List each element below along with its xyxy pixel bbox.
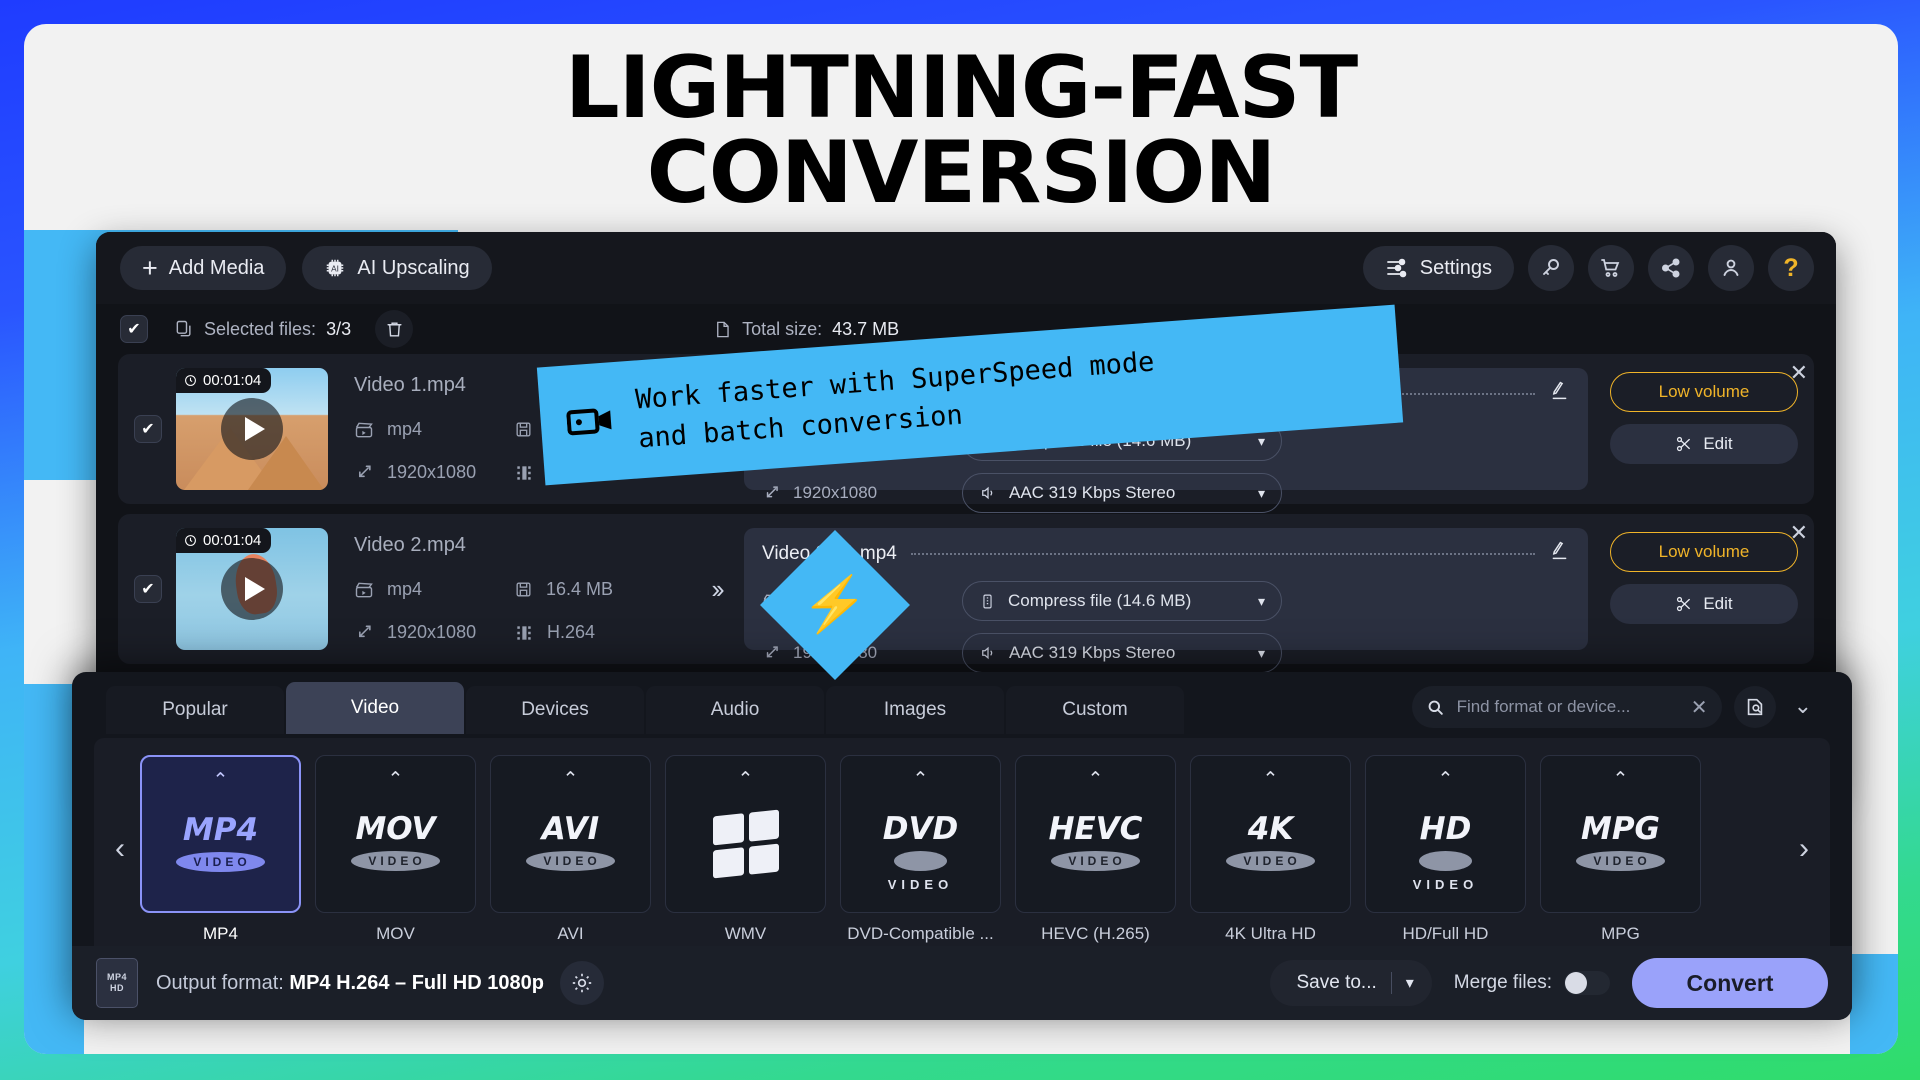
chevron-up-icon: ⌃ <box>1088 770 1104 789</box>
ai-upscaling-button[interactable]: AI AI Upscaling <box>302 246 491 290</box>
resize-icon <box>354 623 374 643</box>
chevron-up-icon: ⌃ <box>388 770 404 789</box>
plus-icon: + <box>142 255 158 282</box>
format-card-label: HD/Full HD <box>1365 924 1526 944</box>
remove-row-icon[interactable]: ✕ <box>1790 362 1808 384</box>
avi-logo: AVI VIDEO <box>526 811 614 871</box>
hero-title-line2: CONVERSION <box>24 131 1898 216</box>
format-card-label: MOV <box>315 924 476 944</box>
tab-custom[interactable]: Custom <box>1006 686 1184 734</box>
file-icon <box>713 320 732 339</box>
settings-button[interactable]: Settings <box>1363 246 1514 290</box>
tab-popular[interactable]: Popular <box>106 686 284 734</box>
background-gradient: LIGHTNING-FAST CONVERSION + Add Media AI… <box>0 0 1920 1080</box>
scissors-icon <box>1675 595 1693 613</box>
tab-label: Video <box>351 697 399 719</box>
bottom-bar-right: Save to... ▾ Merge files: Convert <box>1270 958 1828 1008</box>
gear-icon[interactable] <box>560 961 604 1005</box>
format-card-body[interactable]: ⌃ HEVC VIDEO <box>1015 755 1176 913</box>
prev-formats-arrow[interactable]: ‹ <box>100 832 140 866</box>
help-icon[interactable]: ? <box>1768 245 1814 291</box>
tab-label: Custom <box>1062 699 1127 721</box>
video-camera-icon <box>566 402 617 444</box>
output-format-text: Output format: MP4 H.264 – Full HD 1080p <box>156 972 544 995</box>
copies-icon <box>174 319 194 339</box>
chevron-down-icon: ▾ <box>1258 433 1265 450</box>
search-icon <box>1426 698 1445 717</box>
row-checkbox-wrap: ✔ <box>134 528 162 650</box>
format-cards: ⌃ MP4 VIDEO MP4 ⌃ MOV VIDEO <box>140 755 1784 944</box>
format-card-avi[interactable]: ⌃ AVI VIDEO AVI <box>490 755 651 944</box>
audio-select[interactable]: AAC 319 Kbps Stereo ▾ <box>962 633 1282 673</box>
duration-badge: 00:01:04 <box>176 368 271 393</box>
merge-files-label: Merge files: <box>1454 972 1552 994</box>
callout-text: Work faster with SuperSpeed mode and bat… <box>634 342 1159 458</box>
compress-icon <box>979 593 996 610</box>
destination-name-line: Video 2 (1).mp4 <box>762 540 1570 567</box>
video-thumbnail[interactable]: 00:01:04 <box>176 368 328 490</box>
source-size-cell: 16.4 MB <box>514 579 688 600</box>
logo-oval-text: VIDEO <box>176 852 264 872</box>
tab-label: Popular <box>162 699 228 721</box>
toolbar-right-group: Settings ? <box>1363 245 1814 291</box>
film-strip-icon <box>514 623 534 643</box>
sliders-icon <box>1385 256 1409 280</box>
share-icon[interactable] <box>1648 245 1694 291</box>
edit-button[interactable]: Edit <box>1610 584 1798 624</box>
duration-value: 00:01:04 <box>203 372 261 389</box>
play-icon <box>245 577 265 601</box>
selected-files-group: Selected files: 3/3 <box>174 310 413 348</box>
tab-audio[interactable]: Audio <box>646 686 824 734</box>
add-media-button[interactable]: + Add Media <box>120 246 286 290</box>
format-card-body[interactable]: ⌃ <box>665 755 826 913</box>
format-card-label: AVI <box>490 924 651 944</box>
logo-oval-text: VIDEO <box>526 851 614 871</box>
chevron-up-icon: ⌃ <box>1613 770 1629 789</box>
format-card-body[interactable]: ⌃ DVD VIDEO <box>840 755 1001 913</box>
resize-icon <box>762 484 781 503</box>
chevron-up-icon: ⌃ <box>913 770 929 789</box>
format-card-label: MP4 <box>140 924 301 944</box>
status-badge[interactable]: Low volume <box>1610 532 1798 572</box>
speaker-icon <box>979 484 997 502</box>
convert-arrow: ›› <box>688 528 744 650</box>
output-format-value: MP4 H.264 – Full HD 1080p <box>289 972 544 994</box>
clear-search-icon[interactable]: ✕ <box>1691 695 1708 720</box>
source-resolution-cell: 1920x1080 <box>354 462 514 483</box>
format-card-hd[interactable]: ⌃ HD VIDEO HD/Full HD <box>1365 755 1526 944</box>
source-meta: Video 2.mp4 mp4 16.4 MB <box>328 528 688 650</box>
mp4-logo: MP4 VIDEO <box>176 812 264 872</box>
resize-icon <box>762 644 781 663</box>
source-container-cell: mp4 <box>354 419 514 440</box>
source-size-value: 16.4 MB <box>546 579 613 600</box>
save-to-label: Save to... <box>1296 972 1376 994</box>
output-format-label: Output format: <box>156 972 284 994</box>
status-badge[interactable]: Low volume <box>1610 372 1798 412</box>
ai-upscaling-label: AI Upscaling <box>357 257 469 280</box>
logo-oval-text: VIDEO <box>1576 851 1664 871</box>
edit-label: Edit <box>1703 434 1732 454</box>
row-checkbox[interactable]: ✔ <box>134 415 162 443</box>
source-codec-value: H.264 <box>547 622 595 643</box>
source-container-value: mp4 <box>387 579 422 600</box>
selected-files-label: Selected files: <box>204 319 316 340</box>
logo-text: MPG <box>1581 811 1660 847</box>
search-box[interactable]: ✕ <box>1412 686 1722 728</box>
tab-images[interactable]: Images <box>826 686 1004 734</box>
duration-value: 00:01:04 <box>203 532 261 549</box>
chevron-down-icon: ▾ <box>1258 645 1265 662</box>
source-codec-cell: H.264 <box>514 622 688 643</box>
audio-label: AAC 319 Kbps Stereo <box>1009 483 1175 503</box>
4k-logo: 4K VIDEO <box>1226 811 1314 871</box>
rename-pencil-icon[interactable] <box>1549 380 1570 407</box>
merge-files-group: Merge files: <box>1454 971 1610 995</box>
dest-resolution-cell: 1920x1080 <box>762 483 962 503</box>
logo-text: AVI <box>542 811 599 847</box>
source-resolution-cell: 1920x1080 <box>354 622 514 643</box>
add-media-label: Add Media <box>169 257 265 280</box>
film-strip-icon <box>514 463 534 483</box>
mpg-logo: MPG VIDEO <box>1576 811 1664 871</box>
dotted-filler <box>911 553 1535 555</box>
format-card-4k[interactable]: ⌃ 4K VIDEO 4K Ultra HD <box>1190 755 1351 944</box>
toggle-knob <box>1565 972 1587 994</box>
key-icon[interactable] <box>1528 245 1574 291</box>
account-icon[interactable] <box>1708 245 1754 291</box>
play-button[interactable] <box>221 398 283 460</box>
format-card-body[interactable]: ⌃ 4K VIDEO <box>1190 755 1351 913</box>
logo-oval-blank <box>894 851 947 871</box>
source-container-value: mp4 <box>387 419 422 440</box>
duration-badge: 00:01:04 <box>176 528 271 553</box>
format-panel: Popular Video Devices Audio Images Custo… <box>72 672 1852 1020</box>
ai-chip-icon: AI <box>324 257 346 279</box>
video-thumbnail[interactable]: 00:01:04 <box>176 528 328 650</box>
tab-video[interactable]: Video <box>286 682 464 734</box>
format-tabs: Popular Video Devices Audio Images Custo… <box>72 672 1852 734</box>
play-button[interactable] <box>221 558 283 620</box>
windows-logo-icon <box>713 809 779 878</box>
format-card-body[interactable]: ⌃ MPG VIDEO <box>1540 755 1701 913</box>
format-tabs-right: ✕ ⌄ <box>1412 686 1818 734</box>
selected-files-value: 3/3 <box>326 319 351 340</box>
dvd-logo: DVD VIDEO <box>883 811 958 892</box>
chevron-up-icon: ⌃ <box>563 770 579 789</box>
play-icon <box>245 417 265 441</box>
total-size-group: Total size: 43.7 MB <box>713 319 899 340</box>
hd-logo: HD VIDEO <box>1413 811 1478 892</box>
disk-icon <box>514 420 533 439</box>
save-to-button[interactable]: Save to... ▾ <box>1270 960 1431 1006</box>
speaker-icon <box>979 644 997 662</box>
search-input[interactable] <box>1457 697 1679 717</box>
scissors-icon <box>1675 435 1693 453</box>
chevron-down-icon: ▾ <box>1258 485 1265 502</box>
logo-sub-text: VIDEO <box>888 877 953 892</box>
clapperboard-icon <box>354 420 374 440</box>
audio-select[interactable]: AAC 319 Kbps Stereo ▾ <box>962 473 1282 513</box>
decorative-blue-block-right <box>1850 954 1898 1054</box>
row-actions: Low volume Edit <box>1588 368 1798 490</box>
logo-text: HD <box>1420 811 1472 847</box>
row-actions: Low volume Edit <box>1588 528 1798 650</box>
logo-oval-blank <box>1419 851 1472 871</box>
format-card-mpg[interactable]: ⌃ MPG VIDEO MPG <box>1540 755 1701 944</box>
cart-icon[interactable] <box>1588 245 1634 291</box>
total-size-value: 43.7 MB <box>832 319 899 340</box>
logo-text: 4K <box>1248 811 1294 847</box>
format-card-strip: ‹ ⌃ MP4 VIDEO MP4 ⌃ <box>94 738 1830 960</box>
chevron-down-icon[interactable]: ▾ <box>1406 973 1424 993</box>
logo-oval-text: VIDEO <box>351 851 439 871</box>
tab-devices[interactable]: Devices <box>466 686 644 734</box>
source-resolution-value: 1920x1080 <box>387 622 476 643</box>
page-title: LIGHTNING-FAST CONVERSION <box>24 46 1898 216</box>
output-icon-top: MP4 <box>107 972 127 983</box>
logo-text: HEVC <box>1049 811 1143 847</box>
total-size-label: Total size: <box>742 319 822 340</box>
source-file-name: Video 2.mp4 <box>354 534 688 557</box>
source-container-cell: mp4 <box>354 579 514 600</box>
logo-text: DVD <box>883 811 958 847</box>
format-card-dvd[interactable]: ⌃ DVD VIDEO DVD-Compatible ... <box>840 755 1001 944</box>
logo-oval-text: VIDEO <box>1226 851 1314 871</box>
tab-label: Devices <box>521 699 589 721</box>
table-row[interactable]: ✔ 00:01:04 Video 2.mp4 <box>118 514 1814 664</box>
compress-label: Compress file (14.6 MB) <box>1008 591 1191 611</box>
svg-text:AI: AI <box>332 265 340 274</box>
divider <box>1391 972 1392 994</box>
convert-button[interactable]: Convert <box>1632 958 1828 1008</box>
edit-button[interactable]: Edit <box>1610 424 1798 464</box>
source-resolution-value: 1920x1080 <box>387 462 476 483</box>
chevron-up-icon: ⌃ <box>1263 770 1279 789</box>
source-meta-grid: mp4 16.4 MB 1920x1080 <box>354 579 688 643</box>
disk-icon <box>514 580 533 599</box>
lightning-bolt-icon: ⚡ <box>801 578 868 632</box>
mov-logo: MOV VIDEO <box>351 811 439 871</box>
compress-select[interactable]: Compress file (14.6 MB) ▾ <box>962 581 1282 621</box>
logo-text: MP4 <box>183 812 258 848</box>
format-card-hevc[interactable]: ⌃ HEVC VIDEO HEVC (H.265) <box>1015 755 1176 944</box>
chevron-down-icon: ▾ <box>1258 593 1265 610</box>
format-card-body[interactable]: ⌃ MP4 VIDEO <box>140 755 301 913</box>
detect-device-icon[interactable] <box>1734 686 1776 728</box>
app-toolbar: + Add Media AI AI Upscaling <box>96 232 1836 304</box>
logo-text: MOV <box>355 811 435 847</box>
format-card-body[interactable]: ⌃ HD VIDEO <box>1365 755 1526 913</box>
format-card-wmv[interactable]: ⌃ WMV <box>665 755 826 944</box>
logo-oval-text: VIDEO <box>1051 851 1139 871</box>
next-formats-arrow[interactable]: › <box>1784 832 1824 866</box>
chevron-up-icon: ⌃ <box>738 770 754 789</box>
format-card-label: DVD-Compatible ... <box>840 924 1001 944</box>
format-card-label: MPG <box>1540 924 1701 944</box>
audio-label: AAC 319 Kbps Stereo <box>1009 643 1175 663</box>
select-all-checkbox[interactable]: ✔ <box>120 315 148 343</box>
row-checkbox[interactable]: ✔ <box>134 575 162 603</box>
tab-label: Audio <box>711 699 760 721</box>
settings-label: Settings <box>1420 257 1492 280</box>
chevron-up-icon: ⌃ <box>213 771 229 790</box>
dest-resolution-value: 1920x1080 <box>793 483 877 503</box>
format-card-body[interactable]: ⌃ MOV VIDEO <box>315 755 476 913</box>
format-card-mp4[interactable]: ⌃ MP4 VIDEO MP4 <box>140 755 301 944</box>
row-checkbox-wrap: ✔ <box>134 368 162 490</box>
output-format-icon: MP4 HD <box>96 958 138 1008</box>
tab-label: Images <box>884 699 946 721</box>
format-card-mov[interactable]: ⌃ MOV VIDEO MOV <box>315 755 476 944</box>
chevron-up-icon: ⌃ <box>1438 770 1454 789</box>
logo-sub-text: VIDEO <box>1413 877 1478 892</box>
delete-selected-button[interactable] <box>375 310 413 348</box>
output-icon-bottom: HD <box>110 983 124 994</box>
collapse-panel-icon[interactable]: ⌄ <box>1788 693 1818 721</box>
format-card-label: WMV <box>665 924 826 944</box>
edit-label: Edit <box>1703 594 1732 614</box>
clapperboard-icon <box>354 580 374 600</box>
format-card-label: HEVC (H.265) <box>1015 924 1176 944</box>
merge-files-toggle[interactable] <box>1564 971 1610 995</box>
format-card-body[interactable]: ⌃ AVI VIDEO <box>490 755 651 913</box>
resize-icon <box>354 463 374 483</box>
remove-row-icon[interactable]: ✕ <box>1790 522 1808 544</box>
rename-pencil-icon[interactable] <box>1549 540 1570 567</box>
bottom-bar: MP4 HD Output format: MP4 H.264 – Full H… <box>72 946 1852 1020</box>
format-card-label: 4K Ultra HD <box>1190 924 1351 944</box>
hevc-logo: HEVC VIDEO <box>1049 811 1143 871</box>
